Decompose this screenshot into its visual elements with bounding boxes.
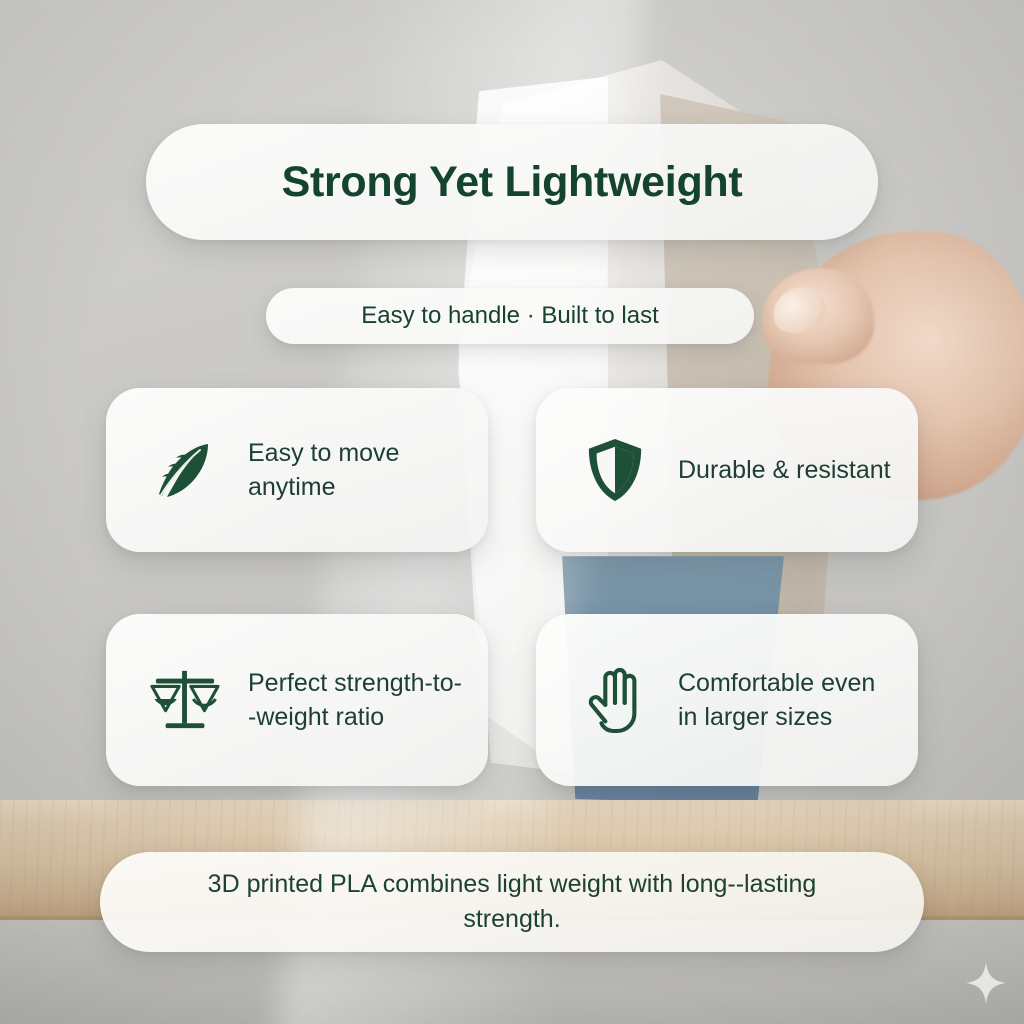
feature-label: Perfect strength-to--weight ratio	[248, 666, 466, 735]
shield-icon	[578, 431, 652, 509]
footer-caption: 3D printed PLA combines light weight wit…	[162, 867, 862, 938]
sparkle-icon	[966, 962, 1006, 1004]
page-title: Strong Yet Lightweight	[282, 158, 743, 207]
feature-card-easy-to-move: Easy to move anytime	[106, 388, 488, 552]
balance-scale-icon	[148, 661, 222, 739]
footer-caption-pill: 3D printed PLA combines light weight wit…	[100, 852, 924, 952]
feather-icon	[148, 431, 222, 509]
subtitle-pill: Easy to handle · Built to last	[266, 288, 754, 344]
feature-card-strength-to-weight: Perfect strength-to--weight ratio	[106, 614, 488, 786]
feature-card-durable: Durable & resistant	[536, 388, 918, 552]
overlay-content: Strong Yet Lightweight Easy to handle · …	[0, 0, 1024, 1024]
feature-label: Comfortable even in larger sizes	[678, 666, 896, 735]
feature-label: Durable & resistant	[678, 453, 891, 488]
feature-label: Easy to move anytime	[248, 436, 466, 505]
promo-graphic: Strong Yet Lightweight Easy to handle · …	[0, 0, 1024, 1024]
feature-card-comfortable: Comfortable even in larger sizes	[536, 614, 918, 786]
title-pill: Strong Yet Lightweight	[146, 124, 878, 240]
hand-icon	[578, 661, 652, 739]
page-subtitle: Easy to handle · Built to last	[361, 302, 659, 330]
